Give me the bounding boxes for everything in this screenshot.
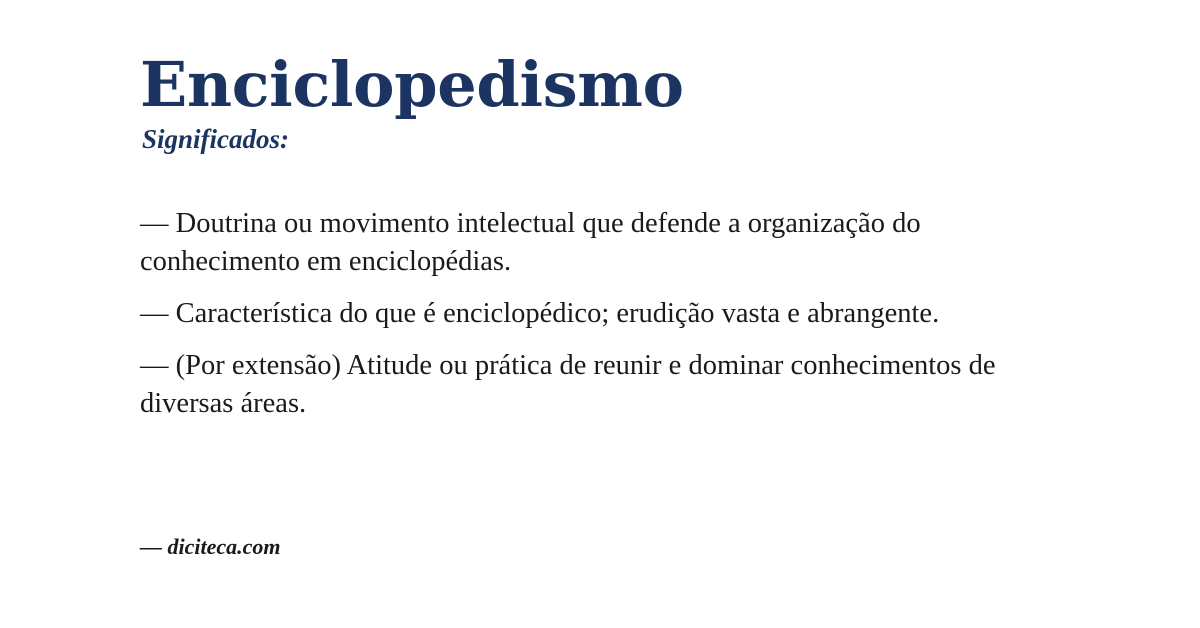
definition-item: — Doutrina ou movimento intelectual que …	[140, 205, 1020, 281]
definition-item: — Característica do que é enciclopédico;…	[140, 295, 1070, 333]
meanings-label: Significados:	[142, 123, 1080, 155]
definitions-list: — Doutrina ou movimento intelectual que …	[140, 205, 1070, 423]
dictionary-entry-card: Enciclopedismo Significados: — Doutrina …	[0, 0, 1200, 628]
page-title: Enciclopedismo	[140, 52, 1080, 119]
entry-content: Enciclopedismo Significados: — Doutrina …	[140, 52, 1080, 423]
source-attribution: — diciteca.com	[140, 533, 281, 562]
definition-item: — (Por extensão) Atitude ou prática de r…	[140, 347, 1060, 423]
